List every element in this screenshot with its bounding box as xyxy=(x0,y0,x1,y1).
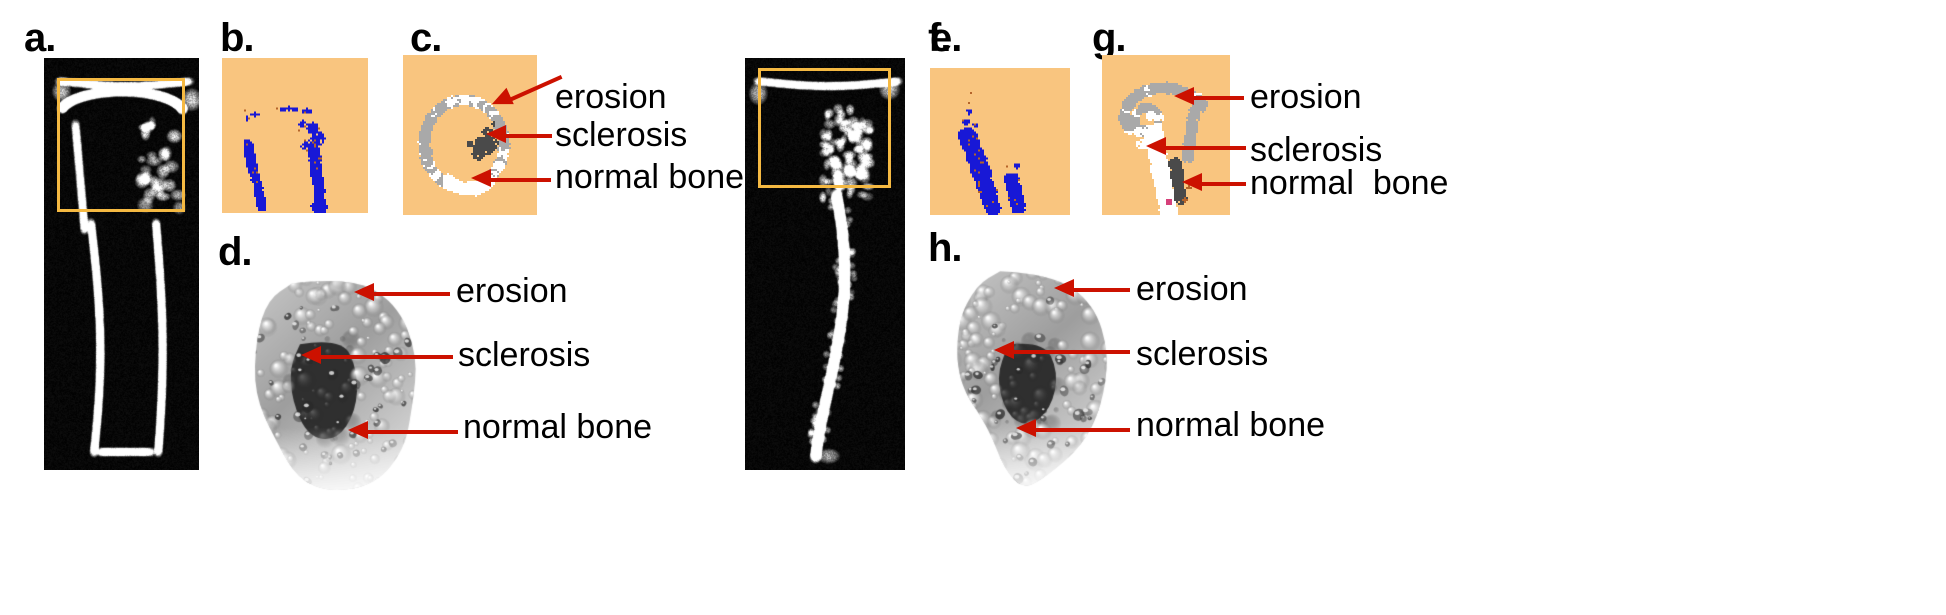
panel-g-label-erosion: erosion xyxy=(1250,80,1362,114)
panel-g-segmentation-image xyxy=(1102,55,1230,215)
panel-e-roi-box xyxy=(758,68,891,188)
panel-h-label-normal-bone: normal bone xyxy=(1136,408,1325,442)
panel-letter-f: f. xyxy=(928,18,950,58)
panel-d-label-sclerosis: sclerosis xyxy=(458,338,590,372)
panel-f-segmentation-image xyxy=(930,68,1070,215)
seg-b-canvas xyxy=(222,58,368,213)
panel-b-segmentation-image xyxy=(222,58,368,213)
panel-letter-a: a. xyxy=(24,18,55,58)
seg-g-canvas xyxy=(1102,55,1230,215)
panel-d-label-erosion: erosion xyxy=(456,274,568,308)
panel-c-label-erosion: erosion xyxy=(555,80,667,114)
panel-letter-b: b. xyxy=(220,18,254,58)
panel-c-label-sclerosis: sclerosis xyxy=(555,118,687,152)
seg-f-canvas xyxy=(930,68,1070,215)
panel-g-label-sclerosis: sclerosis xyxy=(1250,133,1382,167)
panel-letter-g: g. xyxy=(1092,18,1126,58)
panel-d-label-normal-bone: normal bone xyxy=(463,410,652,444)
panel-h-3d-render xyxy=(930,262,1125,492)
panel-g-label-normal-bone: normal bone xyxy=(1250,166,1448,200)
panel-d-3d-render xyxy=(232,270,432,495)
figure-canvas: a. b. c. erosion sclerosis normal bone d… xyxy=(0,0,1946,615)
panel-a-roi-box xyxy=(57,78,185,212)
panel-c-label-normal-bone: normal bone xyxy=(555,160,744,194)
render-h-canvas xyxy=(930,262,1125,492)
panel-h-label-sclerosis: sclerosis xyxy=(1136,337,1268,371)
panel-letter-d: d. xyxy=(218,232,252,272)
panel-letter-c: c. xyxy=(410,18,441,58)
panel-h-label-erosion: erosion xyxy=(1136,272,1248,306)
render-d-canvas xyxy=(232,270,432,495)
